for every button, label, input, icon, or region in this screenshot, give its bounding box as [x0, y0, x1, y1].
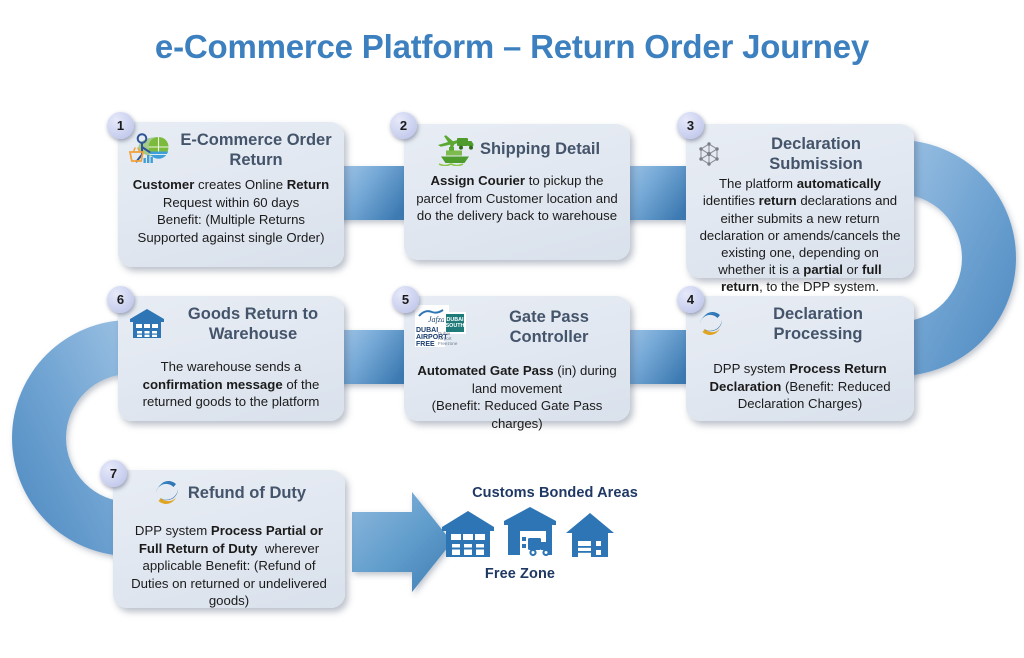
gate-pass-logos-icon: Jafza DUBAI SOUTH DUBAI AIRPORT FREE Dub…: [414, 304, 472, 350]
step-badge-5: 5: [392, 286, 419, 313]
step-badge-2: 2: [390, 112, 417, 139]
connector-bar-5-6: [336, 330, 414, 384]
free-zone-house-icon: [564, 511, 616, 561]
card-header: Jafza DUBAI SOUTH DUBAI AIRPORT FREE Dub…: [414, 304, 620, 350]
free-zone-label: Free Zone: [420, 566, 620, 582]
dubai-customs-swoosh-icon: [152, 479, 182, 507]
card-header: Shipping Detail: [414, 132, 620, 166]
card-title: Refund of Duty: [188, 483, 306, 503]
card-body: The warehouse sends a confirmation messa…: [128, 358, 334, 411]
svg-text:Freezone: Freezone: [438, 341, 458, 346]
step-card-5[interactable]: Jafza DUBAI SOUTH DUBAI AIRPORT FREE Dub…: [404, 296, 630, 421]
card-header: Declaration Processing: [696, 304, 904, 344]
svg-text:SOUTH: SOUTH: [446, 323, 465, 329]
dubai-customs-swoosh-icon: [696, 310, 726, 338]
card-header: Refund of Duty: [123, 478, 335, 508]
connector-bar-1-2: [336, 166, 414, 220]
shipping-transport-icon: [434, 132, 474, 166]
step-badge-4: 4: [677, 286, 704, 313]
card-title: E-Commerce Order Return: [178, 130, 334, 170]
card-body: DPP system Process Partial or Full Retur…: [123, 522, 335, 610]
loading-dock-truck-icon: [502, 505, 558, 561]
card-title: Gate Pass Controller: [478, 307, 620, 347]
network-nodes-icon: [696, 141, 722, 167]
step-badge-3: 3: [677, 112, 704, 139]
card-title: Goods Return to Warehouse: [172, 304, 334, 344]
step-card-4[interactable]: Declaration Processing DPP system Proces…: [686, 296, 914, 421]
card-body: Assign Courier to pickup the parcel from…: [414, 172, 620, 225]
step-card-1[interactable]: E-Commerce Order Return Customer creates…: [118, 122, 344, 267]
card-title: Declaration Submission: [728, 134, 904, 174]
connector-curve-right: [898, 140, 1016, 376]
card-body: The platform automatically identifies re…: [696, 175, 904, 295]
card-header: Declaration Submission: [696, 134, 904, 174]
card-body: DPP system Process Return Declaration (B…: [696, 360, 904, 413]
card-body: Customer creates Online Return Request w…: [128, 176, 334, 246]
diagram-canvas: e-Commerce Platform – Return Order Journ…: [0, 0, 1024, 658]
step-badge-6: 6: [107, 286, 134, 313]
svg-text:FREE: FREE: [416, 341, 435, 348]
step-badge-1: 1: [107, 112, 134, 139]
step-card-3[interactable]: Declaration Submission The platform auto…: [686, 124, 914, 278]
card-header: Goods Return to Warehouse: [128, 304, 334, 344]
svg-text:Jafza: Jafza: [428, 315, 445, 324]
step-card-2[interactable]: Shipping Detail Assign Courier to pickup…: [404, 124, 630, 260]
destination-icons: [440, 505, 616, 561]
card-title: Declaration Processing: [732, 304, 904, 344]
warehouse-icon: [128, 307, 166, 341]
step-card-6[interactable]: Goods Return to Warehouse The warehouse …: [118, 296, 344, 421]
card-header: E-Commerce Order Return: [128, 130, 334, 170]
card-title: Shipping Detail: [480, 139, 600, 159]
bonded-warehouse-icon: [440, 509, 496, 561]
customs-bonded-areas-label: Customs Bonded Areas: [420, 485, 690, 501]
svg-text:DUBAI: DUBAI: [416, 327, 438, 334]
card-body: Automated Gate Pass (in) during land mov…: [414, 362, 620, 432]
ecommerce-shopper-globe-icon: [128, 131, 172, 169]
step-card-7[interactable]: Refund of Duty DPP system Process Partia…: [113, 470, 345, 608]
step-badge-7: 7: [100, 460, 127, 487]
